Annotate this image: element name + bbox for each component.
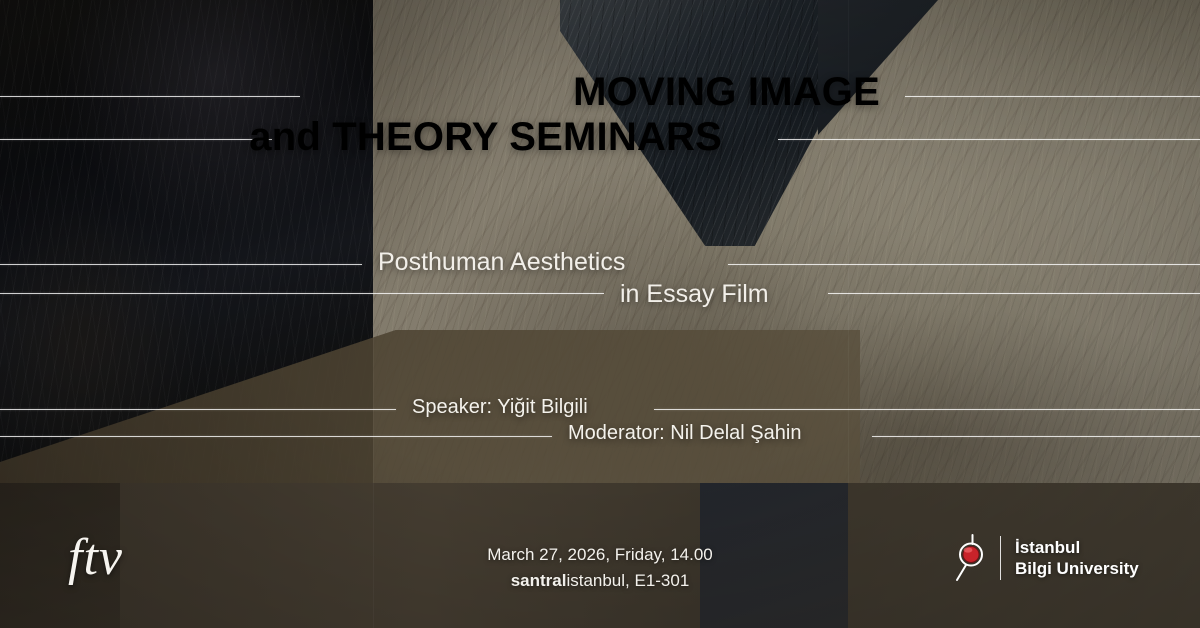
talk-title-line1: Posthuman Aesthetics [0, 246, 1200, 278]
talk-title: Posthuman Aesthetics in Essay Film [0, 246, 1200, 310]
speaker-credit: Speaker: Yiğit Bilgili [0, 394, 1200, 420]
university-name-line1: İstanbul [1015, 537, 1139, 558]
university-logo-lockup: İstanbul Bilgi University [952, 534, 1139, 582]
series-title-line1: MOVING IMAGE [0, 72, 1158, 113]
people-credits: Speaker: Yiğit Bilgili Moderator: Nil De… [0, 394, 1200, 447]
event-poster: MOVING IMAGE and THEORY SEMINARS Posthum… [0, 0, 1200, 628]
moderator-credit: Moderator: Nil Delal Şahin [0, 420, 1200, 446]
talk-title-line2: in Essay Film [0, 278, 1200, 310]
bilgi-pin-icon [952, 534, 986, 582]
series-title-line2: and THEORY SEMINARS [0, 117, 1158, 158]
venue-location: istanbul, E1-301 [566, 571, 689, 590]
university-name-line2: Bilgi University [1015, 558, 1139, 579]
venue-brand: santral [511, 571, 567, 590]
vertical-divider [1000, 536, 1001, 580]
series-title: MOVING IMAGE and THEORY SEMINARS [0, 72, 1158, 158]
ftv-logo: ftv [68, 528, 123, 587]
university-name: İstanbul Bilgi University [1015, 537, 1139, 580]
